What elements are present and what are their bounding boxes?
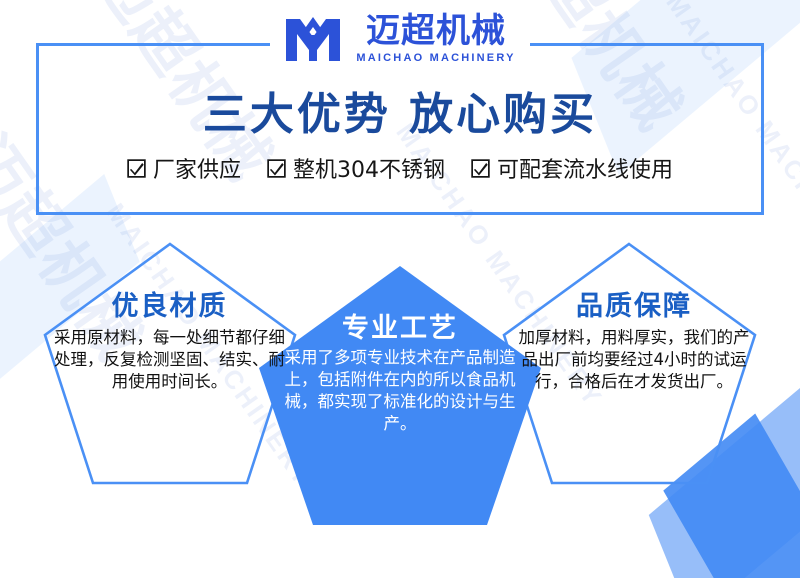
brand-logo: 迈超机械 MAICHAO MACHINERY: [0, 8, 800, 70]
checkbox-checked-icon: [127, 159, 146, 178]
feature-title: 品质保障: [513, 284, 755, 323]
checkbox-checked-icon: [471, 159, 490, 178]
feature-pentagon-group: 优良材质 采用原材料，每一处细节都仔细处理，反复检测坚固、结实、耐用使用时间长。…: [0, 228, 800, 548]
brand-name-en: MAICHAO MACHINERY: [356, 53, 515, 64]
maichao-m-logo-icon: [284, 15, 342, 63]
advantage-item-1: 厂家供应: [127, 152, 241, 184]
feature-title: 优良材质: [47, 284, 292, 323]
feature-title: 专业工艺: [279, 306, 521, 345]
feature-body: 加厚材料，用料厚实，我们的产品出厂前均要经过4小时的试运行，合格后在才发货出厂。: [513, 327, 755, 392]
feature-card-quality: 品质保障 加厚材料，用料厚实，我们的产品出厂前均要经过4小时的试运行，合格后在才…: [513, 284, 755, 392]
feature-body: 采用原材料，每一处细节都仔细处理，反复检测坚固、结实、耐用使用时间长。: [47, 327, 292, 392]
advantage-label: 厂家供应: [153, 152, 241, 184]
feature-card-craft: 专业工艺 采用了多项专业技术在产品制造上，包括附件在内的所以食品机械，都实现了标…: [279, 306, 521, 435]
advantage-item-3: 可配套流水线使用: [471, 152, 673, 184]
page-title: 三大优势 放心购买: [36, 78, 764, 142]
brand-name-cn: 迈超机械: [366, 14, 506, 48]
advantage-item-2: 整机304不锈钢: [267, 152, 445, 184]
feature-body: 采用了多项专业技术在产品制造上，包括附件在内的所以食品机械，都实现了标准化的设计…: [279, 347, 521, 435]
advantage-label: 可配套流水线使用: [497, 152, 673, 184]
feature-card-material: 优良材质 采用原材料，每一处细节都仔细处理，反复检测坚固、结实、耐用使用时间长。: [47, 284, 292, 392]
advantage-check-list: 厂家供应 整机304不锈钢 可配套流水线使用: [36, 152, 764, 184]
checkbox-checked-icon: [267, 159, 286, 178]
advantage-label: 整机304不锈钢: [293, 152, 445, 184]
